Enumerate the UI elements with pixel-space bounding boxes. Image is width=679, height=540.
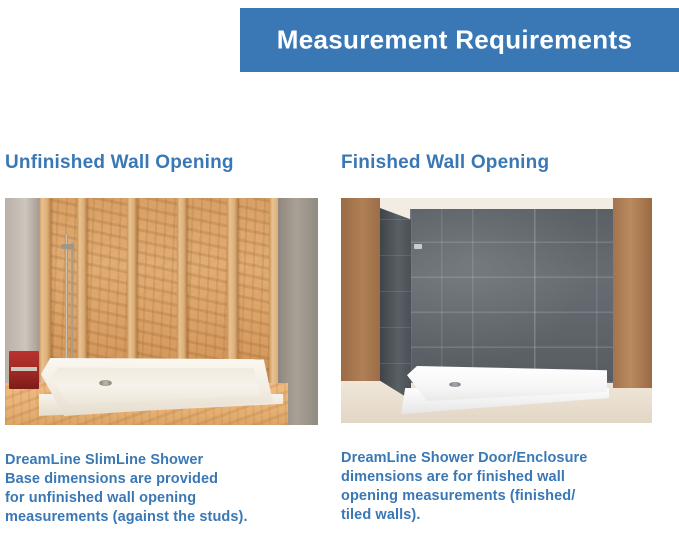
shower-head-fitting-icon: [414, 244, 422, 249]
caption-finished: DreamLine Shower Door/Enclosure dimensio…: [341, 449, 661, 525]
shower-supply-pipe-icon: [71, 242, 73, 362]
heading-finished-wall-opening: Finished Wall Opening: [341, 150, 661, 176]
header-banner: Measurement Requirements: [240, 8, 679, 72]
shower-drain-icon: [99, 380, 112, 386]
finished-scene: [341, 198, 652, 423]
shower-drain-icon: [449, 382, 461, 387]
tiled-back-wall: [410, 209, 613, 383]
unfinished-scene: [5, 198, 318, 425]
painted-wall-left: [341, 198, 380, 381]
photo-finished-wall-opening: [341, 198, 652, 423]
tiled-side-wall: [380, 208, 411, 400]
shower-valve-icon: [61, 244, 74, 249]
column-finished: Finished Wall Opening DreamLine Shower D…: [341, 150, 661, 525]
photo-unfinished-wall-opening: [5, 198, 318, 425]
heading-unfinished-wall-opening: Unfinished Wall Opening: [5, 150, 325, 176]
painted-wall-right: [613, 198, 652, 388]
caption-unfinished: DreamLine SlimLine Shower Base dimension…: [5, 451, 325, 527]
column-unfinished: Unfinished Wall Opening DreamLine SlimLi…: [5, 150, 325, 527]
page-title: Measurement Requirements: [240, 25, 669, 56]
shower-supply-pipe-icon: [65, 234, 68, 362]
toolbox-icon: [9, 351, 39, 389]
